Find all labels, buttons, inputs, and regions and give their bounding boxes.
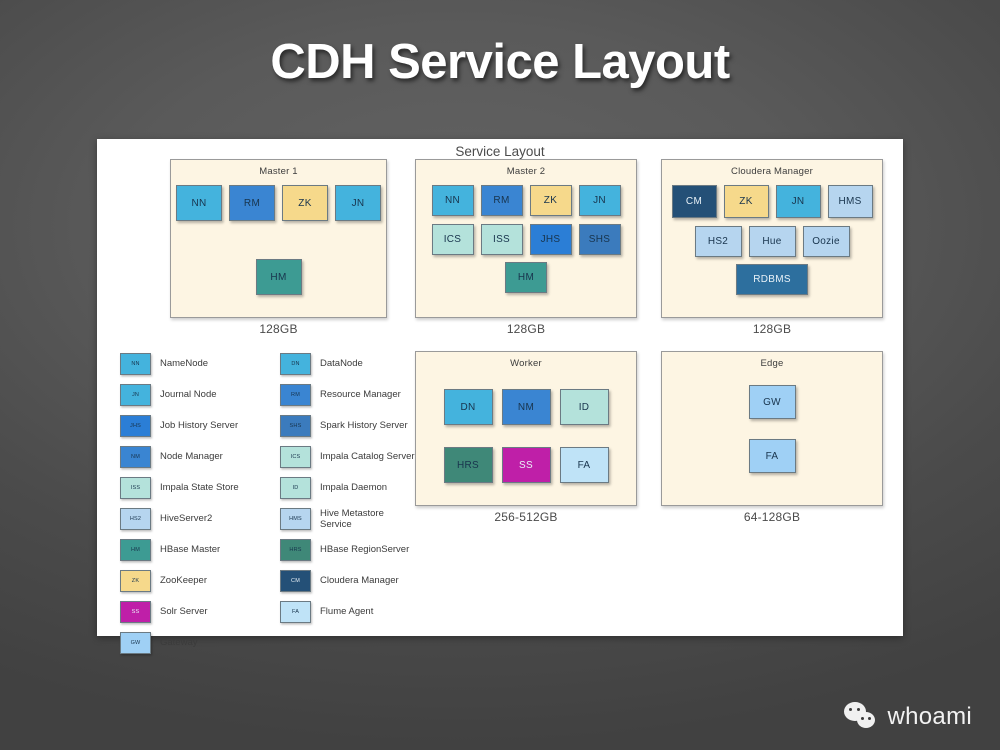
legend-swatch-hs2: HS2 xyxy=(120,508,151,530)
legend-swatch-jn: JN xyxy=(120,384,151,406)
service-node-dn[interactable]: DN xyxy=(444,389,493,425)
service-node-hs2[interactable]: HS2 xyxy=(695,226,742,257)
legend-label: Journal Node xyxy=(160,389,217,400)
watermark-label: whoami xyxy=(888,703,973,731)
legend-item-id[interactable]: IDImpala Daemon xyxy=(280,472,418,503)
legend-item-hm[interactable]: HMHBase Master xyxy=(120,534,258,565)
host-panel-cm[interactable]: Cloudera ManagerCMZKJNHMSHS2HueOozieRDBM… xyxy=(661,159,883,318)
service-node-rm[interactable]: RM xyxy=(481,185,523,216)
legend-swatch-shs: SHS xyxy=(280,415,311,437)
legend-item-gw[interactable]: GWGateway xyxy=(120,627,258,658)
legend-swatch-zk: ZK xyxy=(120,570,151,592)
node-row: CMZKJNHMS xyxy=(662,185,882,218)
legend-item-cm[interactable]: CMCloudera Manager xyxy=(280,565,418,596)
service-node-zk[interactable]: ZK xyxy=(282,185,328,221)
legend-label: DataNode xyxy=(320,358,363,369)
service-node-cm[interactable]: CM xyxy=(672,185,717,218)
legend-label: HBase RegionServer xyxy=(320,544,409,555)
legend-swatch-fa: FA xyxy=(280,601,311,623)
service-node-iss[interactable]: ISS xyxy=(481,224,523,255)
service-node-zk[interactable]: ZK xyxy=(530,185,572,216)
legend-swatch-hm: HM xyxy=(120,539,151,561)
legend-label: Spark History Server xyxy=(320,420,408,431)
node-row: HM xyxy=(171,259,386,295)
node-row: NNRMZKJN xyxy=(416,185,636,216)
node-row: HRSSSFA xyxy=(416,447,636,483)
diagram-caption: Service Layout xyxy=(97,144,903,159)
legend-swatch-nm: NM xyxy=(120,446,151,468)
service-node-ss[interactable]: SS xyxy=(502,447,551,483)
host-panel-title: Edge xyxy=(662,358,882,369)
legend-swatch-ics: ICS xyxy=(280,446,311,468)
legend-label: HBase Master xyxy=(160,544,220,555)
host-panel-master1[interactable]: Master 1NNRMZKJNHM xyxy=(170,159,387,318)
legend-item-nn[interactable]: NNNameNode xyxy=(120,348,258,379)
diagram-card: Service Layout Master 1NNRMZKJNHM128GBMa… xyxy=(97,139,903,636)
service-node-rdbms[interactable]: RDBMS xyxy=(736,264,808,295)
legend-swatch-hms: HMS xyxy=(280,508,311,530)
legend-item-jhs[interactable]: JHSJob History Server xyxy=(120,410,258,441)
host-panel-title: Cloudera Manager xyxy=(662,166,882,177)
node-row: RDBMS xyxy=(662,264,882,295)
memory-label-cm: 128GB xyxy=(661,322,883,336)
legend-label: Job History Server xyxy=(160,420,238,431)
legend-swatch-jhs: JHS xyxy=(120,415,151,437)
legend-column-right: DNDataNodeRMResource ManagerSHSSpark His… xyxy=(280,348,418,658)
legend-label: Gateway xyxy=(160,637,198,648)
service-node-id[interactable]: ID xyxy=(560,389,609,425)
legend-swatch-iss: ISS xyxy=(120,477,151,499)
service-node-hm[interactable]: HM xyxy=(505,262,547,293)
service-node-shs[interactable]: SHS xyxy=(579,224,621,255)
legend-label: NameNode xyxy=(160,358,208,369)
service-node-zk[interactable]: ZK xyxy=(724,185,769,218)
service-node-nm[interactable]: NM xyxy=(502,389,551,425)
service-node-jn[interactable]: JN xyxy=(776,185,821,218)
service-node-fa[interactable]: FA xyxy=(749,439,796,473)
node-row: DNNMID xyxy=(416,389,636,425)
page-title: CDH Service Layout xyxy=(0,34,1000,90)
legend-swatch-dn: DN xyxy=(280,353,311,375)
service-node-jn[interactable]: JN xyxy=(579,185,621,216)
node-row: FA xyxy=(662,439,882,473)
legend-label: Flume Agent xyxy=(320,606,373,617)
legend-swatch-ss: SS xyxy=(120,601,151,623)
legend-label: ZooKeeper xyxy=(160,575,207,586)
legend-swatch-nn: NN xyxy=(120,353,151,375)
node-row: HS2HueOozie xyxy=(662,226,882,257)
legend-swatch-cm: CM xyxy=(280,570,311,592)
node-row: HM xyxy=(416,262,636,293)
node-row: NNRMZKJN xyxy=(171,185,386,221)
legend-label: Hive Metastore Service xyxy=(320,508,418,530)
service-node-hm[interactable]: HM xyxy=(256,259,302,295)
wechat-icon xyxy=(844,702,878,732)
service-node-jn[interactable]: JN xyxy=(335,185,381,221)
legend-item-dn[interactable]: DNDataNode xyxy=(280,348,418,379)
legend-label: Impala State Store xyxy=(160,482,239,493)
legend-label: Resource Manager xyxy=(320,389,401,400)
service-node-oozie[interactable]: Oozie xyxy=(803,226,850,257)
memory-label-edge: 64-128GB xyxy=(661,510,883,524)
legend-label: Solr Server xyxy=(160,606,208,617)
legend-item-shs[interactable]: SHSSpark History Server xyxy=(280,410,418,441)
legend-item-hrs[interactable]: HRSHBase RegionServer xyxy=(280,534,418,565)
legend-swatch-rm: RM xyxy=(280,384,311,406)
memory-label-worker: 256-512GB xyxy=(415,510,637,524)
service-node-hue[interactable]: Hue xyxy=(749,226,796,257)
legend-item-ics[interactable]: ICSImpala Catalog Server xyxy=(280,441,418,472)
node-row: ICSISSJHSSHS xyxy=(416,224,636,255)
service-node-fa[interactable]: FA xyxy=(560,447,609,483)
legend-item-jn[interactable]: JNJournal Node xyxy=(120,379,258,410)
service-node-hrs[interactable]: HRS xyxy=(444,447,493,483)
host-panel-worker[interactable]: WorkerDNNMIDHRSSSFA xyxy=(415,351,637,506)
host-panel-title: Master 2 xyxy=(416,166,636,177)
legend: NNNameNodeJNJournal NodeJHSJob History S… xyxy=(120,348,420,658)
legend-column-left: NNNameNodeJNJournal NodeJHSJob History S… xyxy=(120,348,258,658)
legend-label: Node Manager xyxy=(160,451,223,462)
legend-item-hs2[interactable]: HS2HiveServer2 xyxy=(120,503,258,534)
host-panel-edge[interactable]: EdgeGWFA xyxy=(661,351,883,506)
host-panel-title: Master 1 xyxy=(171,166,386,177)
service-node-hms[interactable]: HMS xyxy=(828,185,873,218)
legend-swatch-id: ID xyxy=(280,477,311,499)
legend-item-rm[interactable]: RMResource Manager xyxy=(280,379,418,410)
memory-label-master2: 128GB xyxy=(415,322,637,336)
host-panel-master2[interactable]: Master 2NNRMZKJNICSISSJHSSHSHM xyxy=(415,159,637,318)
legend-item-iss[interactable]: ISSImpala State Store xyxy=(120,472,258,503)
legend-label: Cloudera Manager xyxy=(320,575,399,586)
service-node-nn[interactable]: NN xyxy=(432,185,474,216)
watermark: whoami xyxy=(844,702,973,732)
legend-swatch-gw: GW xyxy=(120,632,151,654)
legend-item-ss[interactable]: SSSolr Server xyxy=(120,596,258,627)
legend-item-nm[interactable]: NMNode Manager xyxy=(120,441,258,472)
service-node-jhs[interactable]: JHS xyxy=(530,224,572,255)
service-node-rm[interactable]: RM xyxy=(229,185,275,221)
legend-label: Impala Daemon xyxy=(320,482,387,493)
legend-item-zk[interactable]: ZKZooKeeper xyxy=(120,565,258,596)
service-node-gw[interactable]: GW xyxy=(749,385,796,419)
node-row: GW xyxy=(662,385,882,419)
legend-item-fa[interactable]: FAFlume Agent xyxy=(280,596,418,627)
legend-swatch-hrs: HRS xyxy=(280,539,311,561)
service-node-nn[interactable]: NN xyxy=(176,185,222,221)
legend-label: Impala Catalog Server xyxy=(320,451,415,462)
legend-label: HiveServer2 xyxy=(160,513,212,524)
legend-item-hms[interactable]: HMSHive Metastore Service xyxy=(280,503,418,534)
host-panel-title: Worker xyxy=(416,358,636,369)
service-node-ics[interactable]: ICS xyxy=(432,224,474,255)
memory-label-master1: 128GB xyxy=(170,322,387,336)
